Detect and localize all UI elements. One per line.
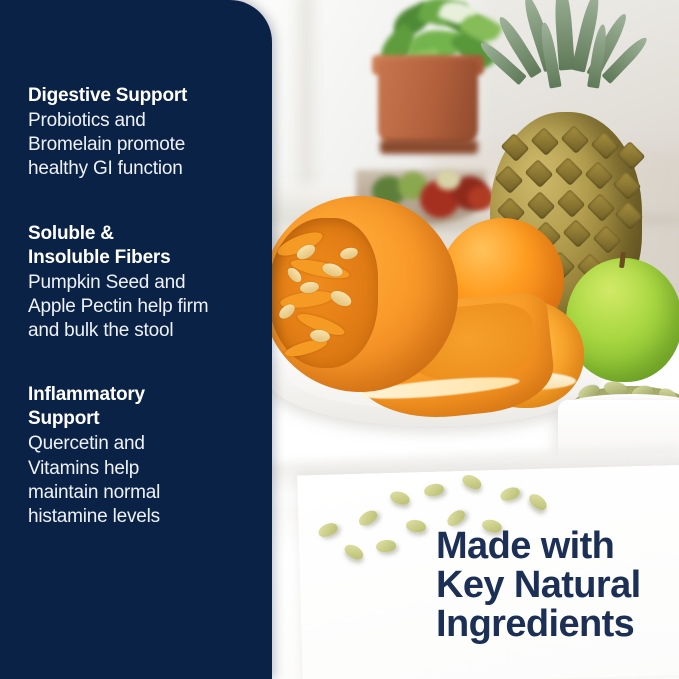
benefit-body: Probiotics and Bromelain promote healthy… bbox=[28, 109, 260, 181]
product-feature-image: Made with Key Natural Ingredients Digest… bbox=[0, 0, 679, 679]
benefits-panel: Digestive Support Probiotics and Bromela… bbox=[0, 0, 272, 679]
flower-pot bbox=[378, 60, 478, 145]
benefit-title: Digestive Support bbox=[28, 84, 260, 108]
benefit-item-digestive-support: Digestive Support Probiotics and Bromela… bbox=[28, 84, 260, 182]
headline-line-2: Key Natural bbox=[436, 566, 668, 605]
benefit-item-soluble-insoluble-fibers: Soluble & Insoluble Fibers Pumpkin Seed … bbox=[28, 222, 260, 344]
benefit-body: Quercetin and Vitamins help maintain nor… bbox=[28, 432, 260, 529]
benefit-list: Digestive Support Probiotics and Bromela… bbox=[28, 84, 260, 529]
headline: Made with Key Natural Ingredients bbox=[436, 527, 668, 644]
flower-pot-base bbox=[380, 140, 478, 154]
headline-line-3: Ingredients bbox=[436, 605, 668, 644]
benefit-body: Pumpkin Seed and Apple Pectin help firm … bbox=[28, 271, 260, 343]
benefit-item-inflammatory-support: Inflammatory Support Quercetin and Vitam… bbox=[28, 383, 260, 529]
headline-line-1: Made with bbox=[436, 527, 668, 566]
benefit-title: Inflammatory Support bbox=[28, 383, 260, 431]
benefit-title: Soluble & Insoluble Fibers bbox=[28, 222, 260, 270]
